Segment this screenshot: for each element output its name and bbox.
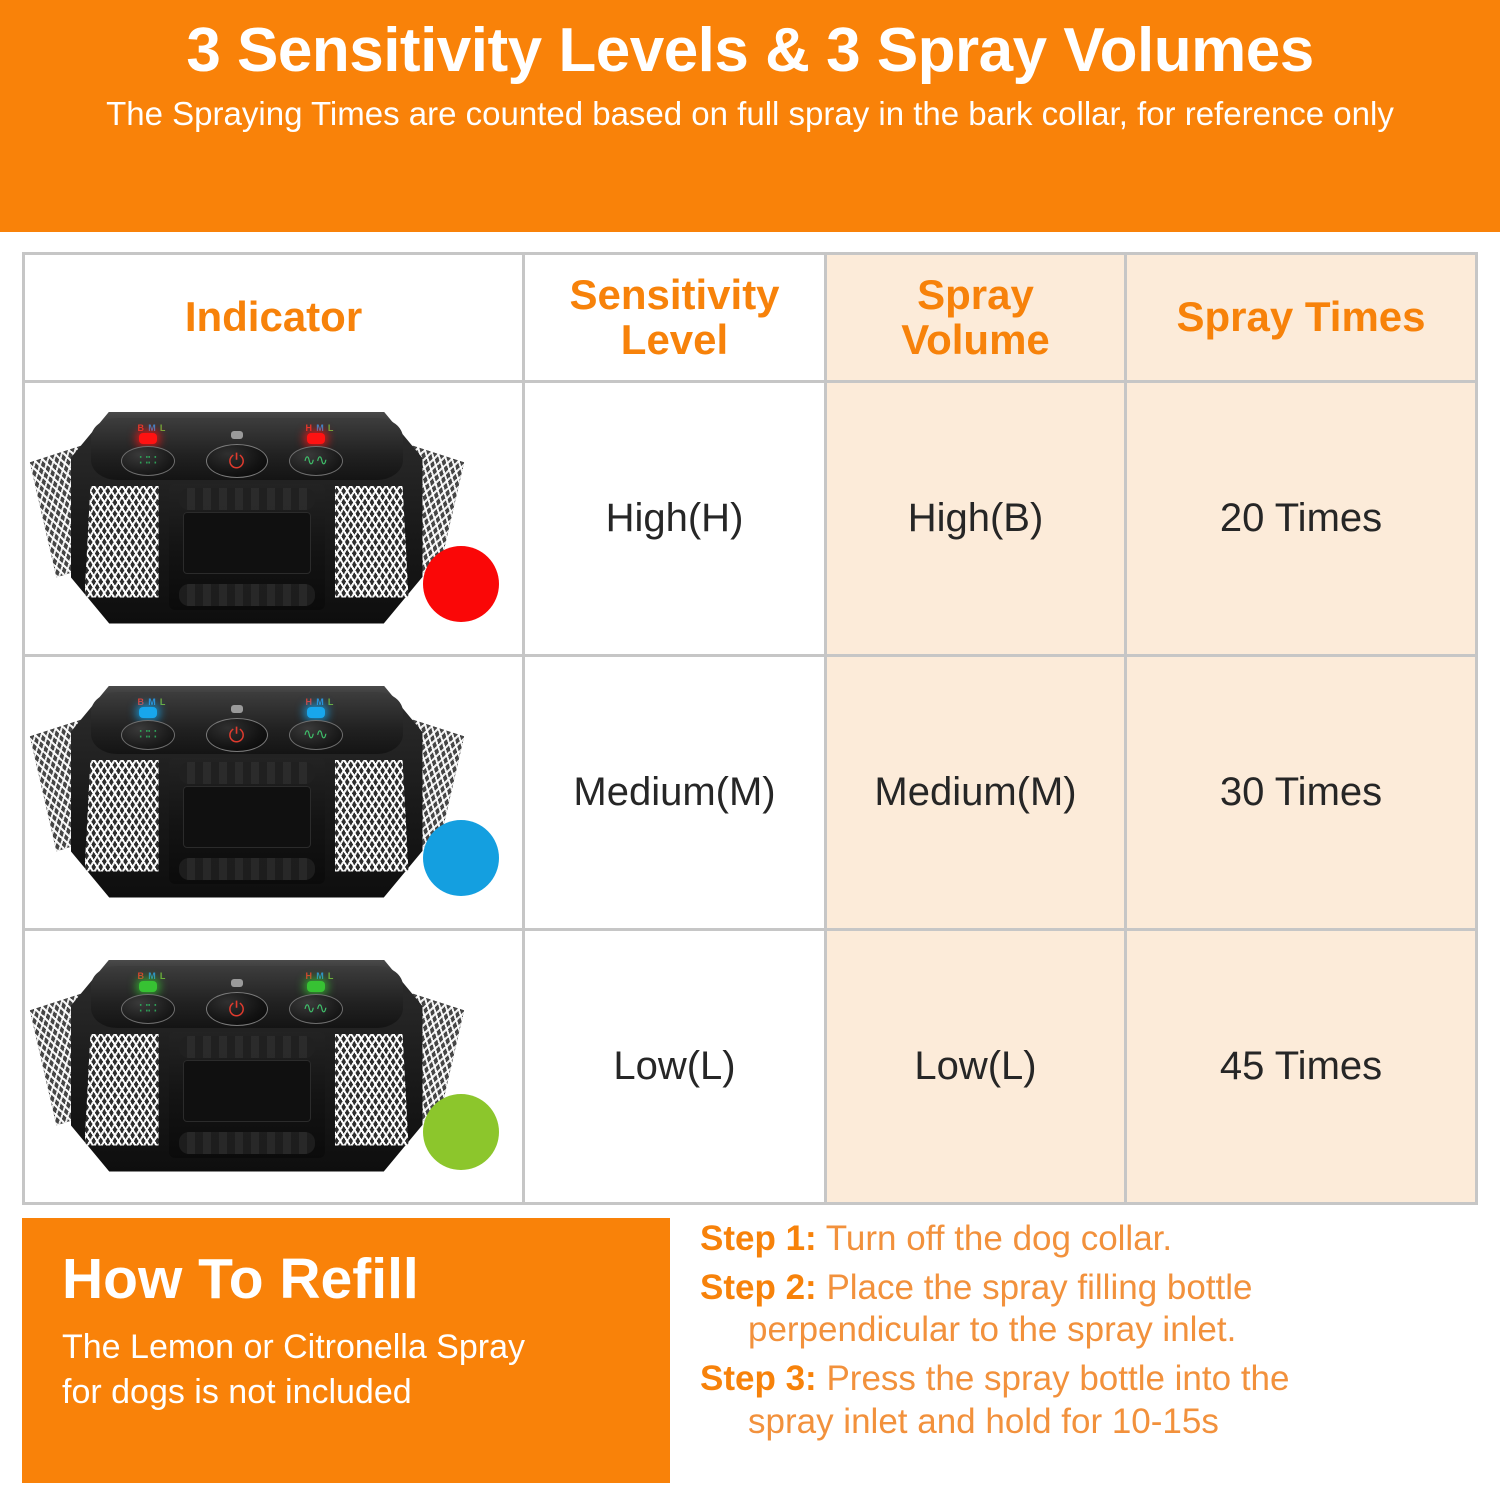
sensitivity-level-labels: BML [137, 971, 169, 981]
volume-value-medium: Medium(M) [826, 656, 1126, 930]
volume-value-high: High(B) [826, 382, 1126, 656]
status-badge [423, 546, 499, 622]
status-badge [423, 820, 499, 896]
times-value-medium: 30 Times [1126, 656, 1477, 930]
step-1-text: Turn off the dog collar. [826, 1219, 1172, 1258]
table-row: BML HML ∷∷ ⏻ ∿∿ Low(L) [24, 930, 1477, 1204]
led-indicator-right [307, 707, 325, 718]
sensitivity-text: Medium(M) [573, 770, 775, 814]
sensitivity-text: High(H) [606, 496, 744, 540]
bark-collar-device-icon: BML HML ∷∷ ⏻ ∿∿ [47, 682, 447, 902]
times-value-high: 20 Times [1126, 382, 1477, 656]
column-header-sensitivity: Sensitivity Level [524, 254, 826, 382]
power-icon: ⏻ [229, 451, 245, 471]
status-led-icon [231, 431, 243, 439]
power-button[interactable]: ⏻ [206, 992, 268, 1026]
spray-icon: ∷∷ [139, 1001, 156, 1016]
list-item: Step 3: Press the spray bottle into the … [700, 1358, 1480, 1443]
refill-note-line1: The Lemon or Citronella Spray [62, 1325, 670, 1370]
column-header-volume: Spray Volume [826, 254, 1126, 382]
header-subtitle: The Spraying Times are counted based on … [0, 87, 1500, 135]
refill-section: How To Refill The Lemon or Citronella Sp… [0, 1218, 1500, 1500]
column-header-times-label: Spray Times [1127, 295, 1475, 339]
collar-mesh-left-icon [85, 486, 159, 598]
power-button[interactable]: ⏻ [206, 444, 268, 478]
bark-sensitivity-button[interactable]: ∿∿ [289, 720, 343, 750]
bark-waveform-icon: ∿∿ [303, 727, 328, 742]
collar-mesh-left-icon [85, 760, 159, 872]
collar-mesh-right-icon [335, 1034, 409, 1146]
times-value-low: 45 Times [1126, 930, 1477, 1204]
bark-waveform-icon: ∿∿ [303, 453, 328, 468]
refill-steps-list: Step 1: Turn off the dog collar. Step 2:… [700, 1218, 1480, 1493]
table-row: BML HML ∷∷ ⏻ ∿∿ High(H) [24, 382, 1477, 656]
outlet-texture-top [179, 488, 315, 510]
led-indicator-left [139, 433, 157, 444]
spray-button[interactable]: ∷∷ [121, 720, 175, 750]
status-badge [423, 1094, 499, 1170]
sensitivity-value-low: Low(L) [524, 930, 826, 1204]
sensitivity-text: Low(L) [613, 1044, 735, 1088]
sensitivity-level-labels: BML [137, 697, 169, 707]
collar-control-panel: BML HML ∷∷ ⏻ ∿∿ [91, 418, 403, 480]
status-led-icon [231, 979, 243, 987]
bark-collar-device-icon: BML HML ∷∷ ⏻ ∿∿ [47, 408, 447, 628]
step-3-label: Step 3: [700, 1359, 817, 1398]
how-to-refill-panel: How To Refill The Lemon or Citronella Sp… [22, 1218, 670, 1483]
outlet-pad [183, 512, 311, 574]
spray-icon: ∷∷ [139, 453, 156, 468]
led-indicator-right [307, 433, 325, 444]
led-indicator-left [139, 707, 157, 718]
spray-outlet [169, 758, 325, 884]
column-header-times: Spray Times [1126, 254, 1477, 382]
table-row: BML HML ∷∷ ⏻ ∿∿ Medium(M) [24, 656, 1477, 930]
spray-button[interactable]: ∷∷ [121, 994, 175, 1024]
outlet-texture-top [179, 1036, 315, 1058]
spray-outlet [169, 1032, 325, 1158]
bark-collar-device-icon: BML HML ∷∷ ⏻ ∿∿ [47, 956, 447, 1176]
times-text: 45 Times [1220, 1044, 1382, 1088]
power-icon: ⏻ [229, 725, 245, 745]
refill-note: The Lemon or Citronella Spray for dogs i… [62, 1325, 670, 1415]
power-button[interactable]: ⏻ [206, 718, 268, 752]
outlet-texture-bottom [179, 584, 315, 606]
header-banner: 3 Sensitivity Levels & 3 Spray Volumes T… [0, 0, 1500, 232]
step-3-text: Press the spray bottle into the [826, 1359, 1289, 1398]
page-title: 3 Sensitivity Levels & 3 Spray Volumes [0, 14, 1500, 87]
column-header-indicator: Indicator [24, 254, 524, 382]
column-header-volume-line1: Spray [827, 273, 1124, 317]
column-header-volume-line2: Volume [827, 318, 1124, 362]
outlet-texture-bottom [179, 858, 315, 880]
collar-control-panel: BML HML ∷∷ ⏻ ∿∿ [91, 692, 403, 754]
spray-settings-table: Indicator Sensitivity Level Spray Volume… [22, 252, 1475, 1204]
column-header-indicator-label: Indicator [25, 295, 522, 339]
sensitivity-level-labels: BML [137, 423, 169, 433]
column-header-sensitivity-line1: Sensitivity [525, 273, 824, 317]
collar-mesh-left-icon [85, 1034, 159, 1146]
spray-level-labels: HML [305, 971, 337, 981]
volume-text: High(B) [908, 496, 1044, 540]
spray-level-labels: HML [305, 697, 337, 707]
spray-icon: ∷∷ [139, 727, 156, 742]
outlet-texture-top [179, 762, 315, 784]
list-item: Step 1: Turn off the dog collar. [700, 1218, 1480, 1261]
step-2-text: Place the spray filling bottle [826, 1268, 1252, 1307]
sensitivity-value-medium: Medium(M) [524, 656, 826, 930]
volume-text: Low(L) [914, 1044, 1036, 1088]
times-text: 20 Times [1220, 496, 1382, 540]
step-3-continuation: spray inlet and hold for 10-15s [700, 1401, 1480, 1444]
outlet-pad [183, 786, 311, 848]
step-2-label: Step 2: [700, 1268, 817, 1307]
bark-sensitivity-button[interactable]: ∿∿ [289, 994, 343, 1024]
volume-value-low: Low(L) [826, 930, 1126, 1204]
times-text: 30 Times [1220, 770, 1382, 814]
status-led-icon [231, 705, 243, 713]
power-icon: ⏻ [229, 999, 245, 1019]
refill-title: How To Refill [62, 1248, 670, 1311]
column-header-sensitivity-line2: Level [525, 318, 824, 362]
indicator-cell-high: BML HML ∷∷ ⏻ ∿∿ [24, 382, 524, 656]
indicator-cell-low: BML HML ∷∷ ⏻ ∿∿ [24, 930, 524, 1204]
spray-outlet [169, 484, 325, 610]
collar-mesh-right-icon [335, 486, 409, 598]
led-indicator-right [307, 981, 325, 992]
spray-button[interactable]: ∷∷ [121, 446, 175, 476]
collar-control-panel: BML HML ∷∷ ⏻ ∿∿ [91, 966, 403, 1028]
collar-mesh-right-icon [335, 760, 409, 872]
step-1-label: Step 1: [700, 1219, 817, 1258]
bark-waveform-icon: ∿∿ [303, 1001, 328, 1016]
refill-note-line2: for dogs is not included [62, 1370, 670, 1415]
step-2-continuation: perpendicular to the spray inlet. [700, 1309, 1480, 1352]
table-header-row: Indicator Sensitivity Level Spray Volume… [24, 254, 1477, 382]
outlet-texture-bottom [179, 1132, 315, 1154]
led-indicator-left [139, 981, 157, 992]
indicator-cell-medium: BML HML ∷∷ ⏻ ∿∿ [24, 656, 524, 930]
volume-text: Medium(M) [874, 770, 1076, 814]
list-item: Step 2: Place the spray filling bottle p… [700, 1267, 1480, 1352]
sensitivity-value-high: High(H) [524, 382, 826, 656]
outlet-pad [183, 1060, 311, 1122]
bark-sensitivity-button[interactable]: ∿∿ [289, 446, 343, 476]
spray-level-labels: HML [305, 423, 337, 433]
